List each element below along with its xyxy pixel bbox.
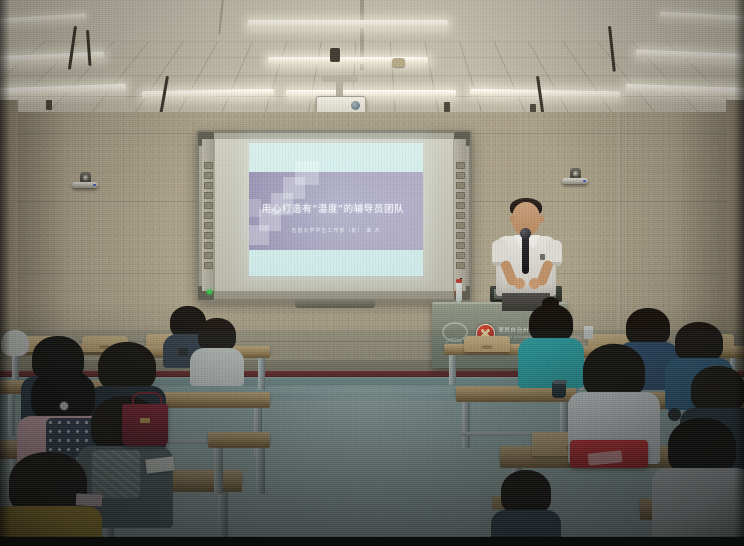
attendee-hair-bun [542,297,559,310]
cup-lid-icon [553,380,567,384]
attendee-hair [626,308,670,346]
desk-leg [214,448,223,494]
board-tool-button[interactable] [204,232,213,239]
attendee-hair [668,418,736,474]
ceiling-rail [218,0,224,34]
desk-leg [258,358,265,390]
seated-attendee [196,318,238,374]
letterbox-bar [0,537,744,546]
board-tool-button[interactable] [456,182,465,189]
desk-leg [256,448,265,494]
board-tool-button[interactable] [204,202,213,209]
ceiling-speaker [330,48,340,62]
attendee-hair [501,470,551,514]
ptz-camera-left [72,170,98,188]
board-tool-button[interactable] [456,172,465,179]
board-tool-button[interactable] [456,212,465,219]
board-toolbar-right[interactable] [454,139,466,291]
water-bottle [456,282,462,302]
camera-led-icon [93,184,96,186]
board-tool-button[interactable] [456,162,465,169]
chair-back-slot [481,345,493,349]
ptz-camera-right [562,166,588,184]
red-handbag [122,404,168,446]
board-tool-button[interactable] [204,192,213,199]
presenter-hand [514,278,525,289]
board-tool-button[interactable] [204,162,213,169]
board-tool-button[interactable] [456,242,465,249]
ceiling-light [660,12,744,23]
ceiling-tile-grid [0,41,744,118]
desk-leg [449,355,456,385]
attendee-hair [98,342,156,392]
attendee-torso [652,468,744,546]
handbag-handle [132,392,162,408]
board-tool-button[interactable] [456,262,465,269]
board-tool-button[interactable] [204,242,213,249]
slide-title: 用心打造有“温度”的辅导员团队 [249,201,417,215]
ceiling-speaker [46,100,52,110]
board-tool-button[interactable] [204,252,213,259]
attendee-torso [518,338,584,388]
desk-row [208,432,270,498]
ceiling-speaker [444,102,450,112]
handbag-clasp-icon [140,418,150,423]
attendee-hair [691,366,744,412]
board-tool-button[interactable] [456,192,465,199]
board-tool-button[interactable] [456,202,465,209]
board-tool-button[interactable] [204,172,213,179]
ceiling-light [0,13,86,24]
seated-attendee [526,304,576,376]
board-power-led-icon [207,290,212,294]
lecture-hall-photo: 用心打造有“温度”的辅导员团队 吉首大学学生工作部（处） 谭 杰 湘西自治州中医… [0,0,744,546]
presenter-badge-icon [540,254,545,260]
board-tool-button[interactable] [204,212,213,219]
attendee-hair [675,322,723,362]
attendee-torso [190,348,244,386]
board-tool-button[interactable] [204,222,213,229]
seated-attendee [660,418,744,546]
seated-attendee [0,330,30,370]
board-toolbar-left[interactable] [202,139,214,291]
board-tool-button[interactable] [456,252,465,259]
handheld-phone [178,348,188,356]
board-tool-button[interactable] [456,232,465,239]
desk-top [150,392,270,402]
attendee-hair [1,330,29,356]
desk-top [208,432,270,442]
smoke-detector-icon [392,58,405,67]
desk-leg [462,402,470,448]
board-tool-button[interactable] [204,182,213,189]
ceiling-light [286,90,456,97]
drink-cup [668,408,681,421]
floor-reflection [250,385,490,545]
water-bottle-cap-icon [456,279,462,283]
projected-slide: 用心打造有“温度”的辅导员团队 吉首大学学生工作部（处） 谭 杰 [249,143,423,276]
presenter-hand [529,278,540,289]
pink-paper [76,493,103,506]
attendee-hair [583,344,645,398]
attendee-patterned-top [92,450,140,498]
camera-lens-icon [83,175,89,181]
chair [464,336,510,358]
ceiling [0,0,744,118]
presenter-ear [539,215,544,223]
ceiling-light [248,20,448,28]
microphone-head-icon [520,228,531,239]
camera-led-icon [583,180,586,182]
chair-back [464,336,510,352]
seated-attendee [498,470,554,546]
water-bottle [584,326,593,339]
projector-lens-icon [351,101,360,110]
desk-leg [8,394,15,436]
desk-edge [150,402,270,408]
earring-icon [60,402,68,410]
drink-cup [552,382,566,398]
board-tool-button[interactable] [204,262,213,269]
board-pen-tray[interactable] [295,299,375,308]
slide-subtitle: 吉首大学学生工作部（处） 谭 杰 [249,227,423,234]
attendee-hair [198,318,236,352]
board-tool-button[interactable] [456,222,465,229]
presenter [490,198,564,310]
presenter-ear [510,215,515,223]
camera-lens-icon [573,171,579,177]
